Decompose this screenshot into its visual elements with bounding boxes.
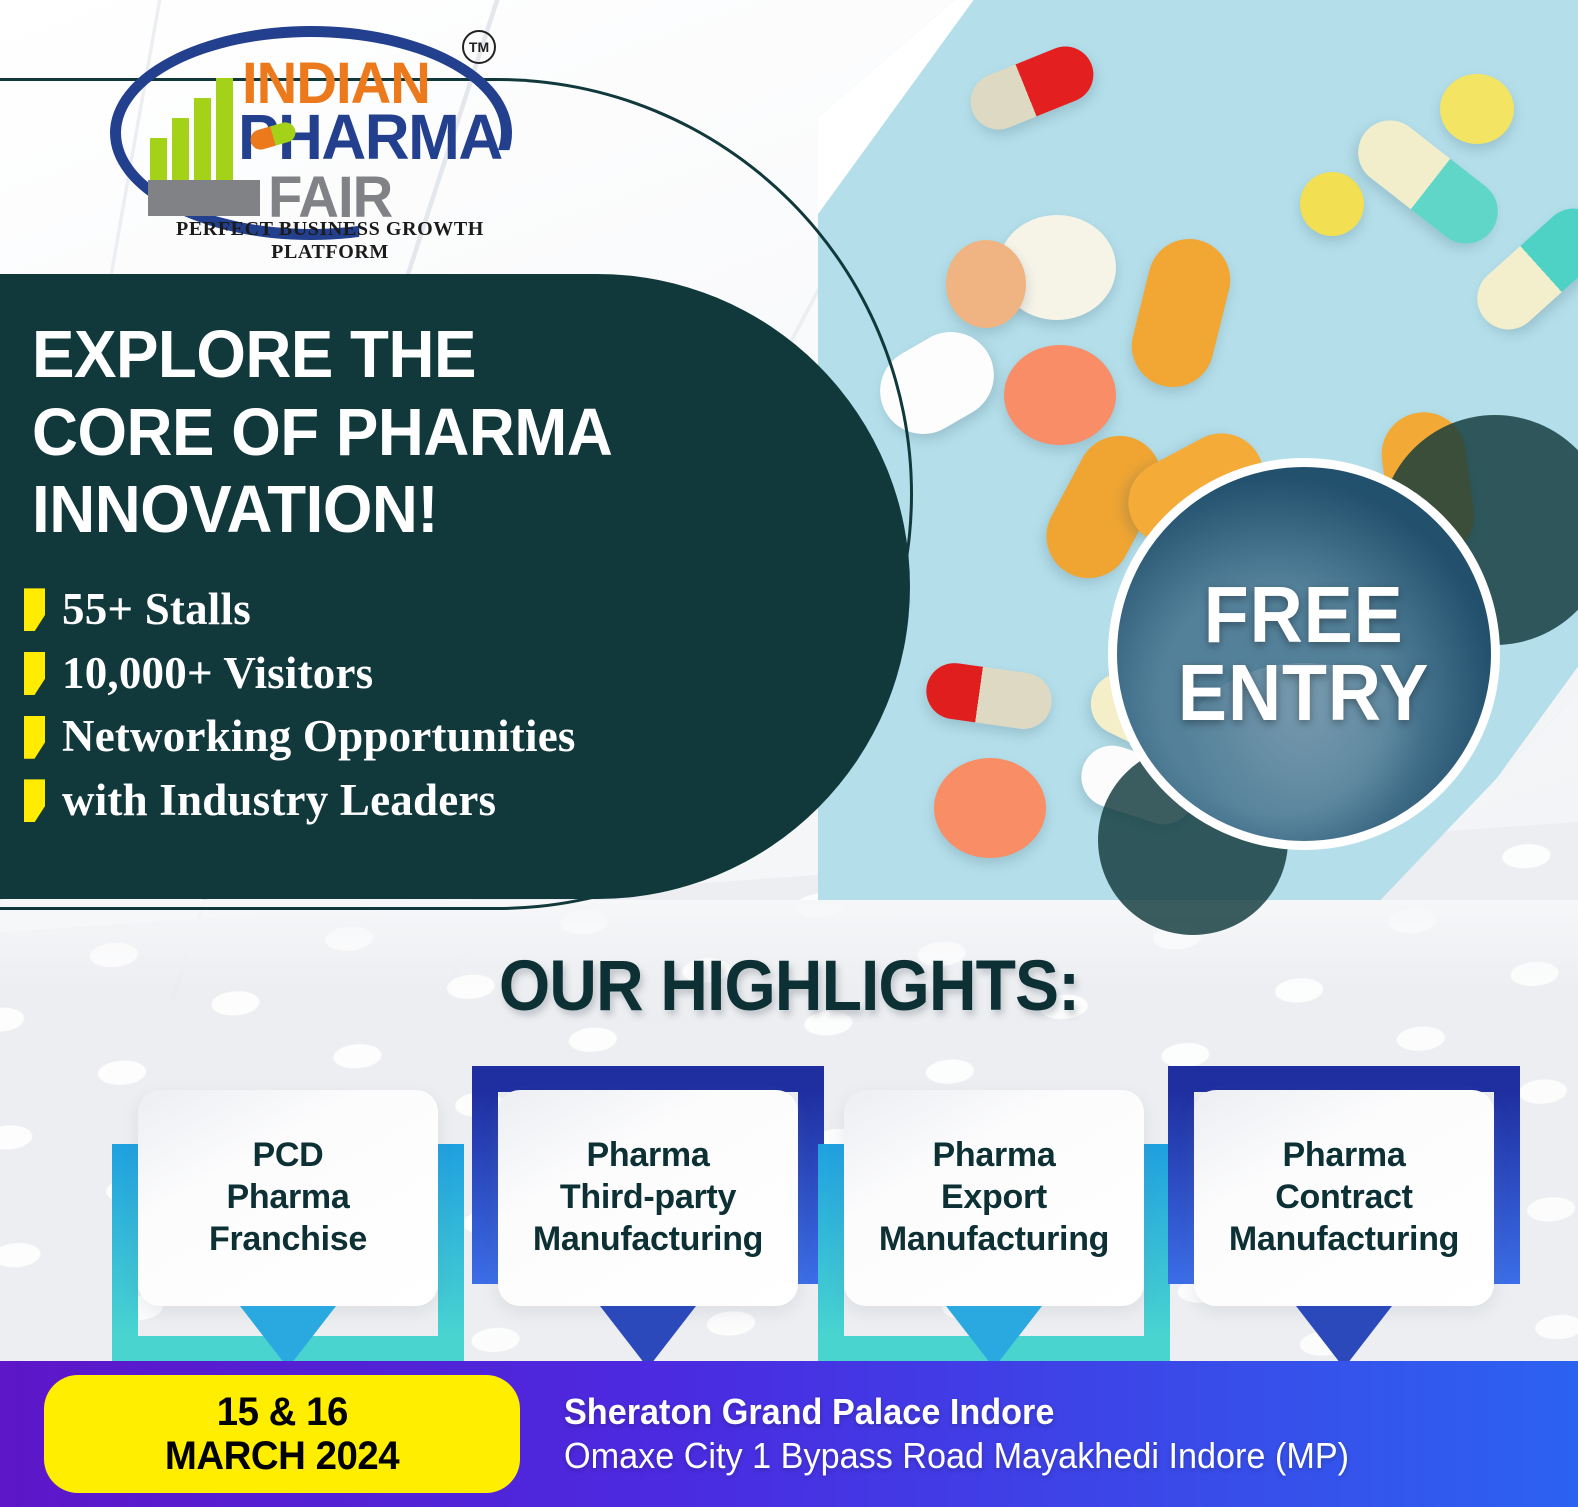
card-label: Pharma Third-party Manufacturing (527, 1135, 769, 1260)
card-line-2: Export (879, 1177, 1109, 1219)
free-entry-line-1: FREE (1204, 576, 1404, 654)
pill-yellow-round-1 (1300, 172, 1364, 236)
headline-line-3: INNOVATION! (32, 471, 821, 549)
card-arrow-down-icon (600, 1306, 696, 1368)
chevron-bullet-icon (24, 779, 45, 822)
logo-tagline: PERFECT BUSINESS GROWTH PLATFORM (130, 218, 530, 264)
free-entry-line-2: ENTRY (1178, 654, 1429, 732)
highlight-card-pcd-pharma-franchise[interactable]: PCD Pharma Franchise (112, 1068, 464, 1368)
list-item: 55+ Stalls (24, 586, 824, 634)
card-line-3: Franchise (209, 1219, 367, 1261)
card-arrow-down-icon (946, 1306, 1042, 1368)
card-line-1: Pharma (879, 1135, 1109, 1177)
brand-logo: INDIAN PHARMA FAIR PERFECT BUSINESS GROW… (110, 22, 520, 234)
event-date-line-2: MARCH 2024 (165, 1434, 399, 1478)
card-line-3: Manufacturing (879, 1219, 1109, 1261)
list-item: with Industry Leaders (24, 777, 824, 825)
list-item-label: Networking Opportunities (62, 713, 576, 761)
card-line-1: Pharma (533, 1135, 763, 1177)
venue-address: Omaxe City 1 Bypass Road Mayakhedi Indor… (564, 1433, 1349, 1478)
list-item-label: 55+ Stalls (62, 586, 251, 634)
pill-peach-round (946, 240, 1026, 328)
card-arrow-down-icon (240, 1306, 336, 1368)
logo-base-bar (148, 180, 260, 216)
card-arrow-down-icon (1296, 1306, 1392, 1368)
card-label: Pharma Contract Manufacturing (1223, 1135, 1465, 1260)
highlight-card-pharma-contract-manufacturing[interactable]: Pharma Contract Manufacturing (1168, 1068, 1520, 1368)
trademark-icon: TM (462, 30, 496, 64)
chevron-bullet-icon (24, 652, 45, 695)
list-item-label: with Industry Leaders (62, 777, 496, 825)
card-body: Pharma Export Manufacturing (844, 1090, 1144, 1306)
benefits-list: 55+ Stalls 10,000+ Visitors Networking O… (24, 586, 824, 841)
pill-coral-round (1004, 345, 1116, 445)
card-line-1: PCD (209, 1135, 367, 1177)
event-footer-bar: 15 & 16 MARCH 2024 Sheraton Grand Palace… (0, 1361, 1578, 1507)
event-date-chip: 15 & 16 MARCH 2024 (44, 1375, 520, 1493)
card-line-2: Third-party (533, 1177, 763, 1219)
highlights-title: OUR HIGHLIGHTS: (55, 946, 1523, 1027)
pill-coral-round-2 (934, 758, 1046, 858)
card-line-3: Manufacturing (1229, 1219, 1459, 1261)
venue-name: Sheraton Grand Palace Indore (564, 1390, 1349, 1433)
highlight-cards: PCD Pharma Franchise Pharma Third-party … (0, 1068, 1578, 1368)
card-line-1: Pharma (1229, 1135, 1459, 1177)
event-date-line-1: 15 & 16 (216, 1390, 347, 1434)
headline-line-2: CORE OF PHARMA (32, 394, 821, 472)
list-item-label: 10,000+ Visitors (62, 650, 373, 698)
card-label: Pharma Export Manufacturing (873, 1135, 1115, 1260)
event-venue: Sheraton Grand Palace Indore Omaxe City … (564, 1390, 1390, 1478)
poster: EXPLORE THE CORE OF PHARMA INNOVATION! 5… (0, 0, 1578, 1507)
card-line-2: Contract (1229, 1177, 1459, 1219)
card-body: Pharma Contract Manufacturing (1194, 1090, 1494, 1306)
logo-bar-chart-icon (150, 74, 250, 184)
highlight-card-pharma-export-manufacturing[interactable]: Pharma Export Manufacturing (818, 1068, 1170, 1368)
highlight-card-pharma-third-party-manufacturing[interactable]: Pharma Third-party Manufacturing (472, 1068, 824, 1368)
headline-line-1: EXPLORE THE (32, 316, 821, 394)
card-line-3: Manufacturing (533, 1219, 763, 1261)
free-entry-badge: FREE ENTRY (1108, 458, 1500, 850)
card-line-2: Pharma (209, 1177, 367, 1219)
card-body: Pharma Third-party Manufacturing (498, 1090, 798, 1306)
chevron-bullet-icon (24, 588, 45, 631)
card-body: PCD Pharma Franchise (138, 1090, 438, 1306)
list-item: 10,000+ Visitors (24, 650, 824, 698)
headline: EXPLORE THE CORE OF PHARMA INNOVATION! (32, 316, 821, 549)
chevron-bullet-icon (24, 716, 45, 759)
list-item: Networking Opportunities (24, 713, 824, 761)
card-label: PCD Pharma Franchise (203, 1135, 373, 1260)
pill-yellow-round-3 (1440, 74, 1514, 144)
